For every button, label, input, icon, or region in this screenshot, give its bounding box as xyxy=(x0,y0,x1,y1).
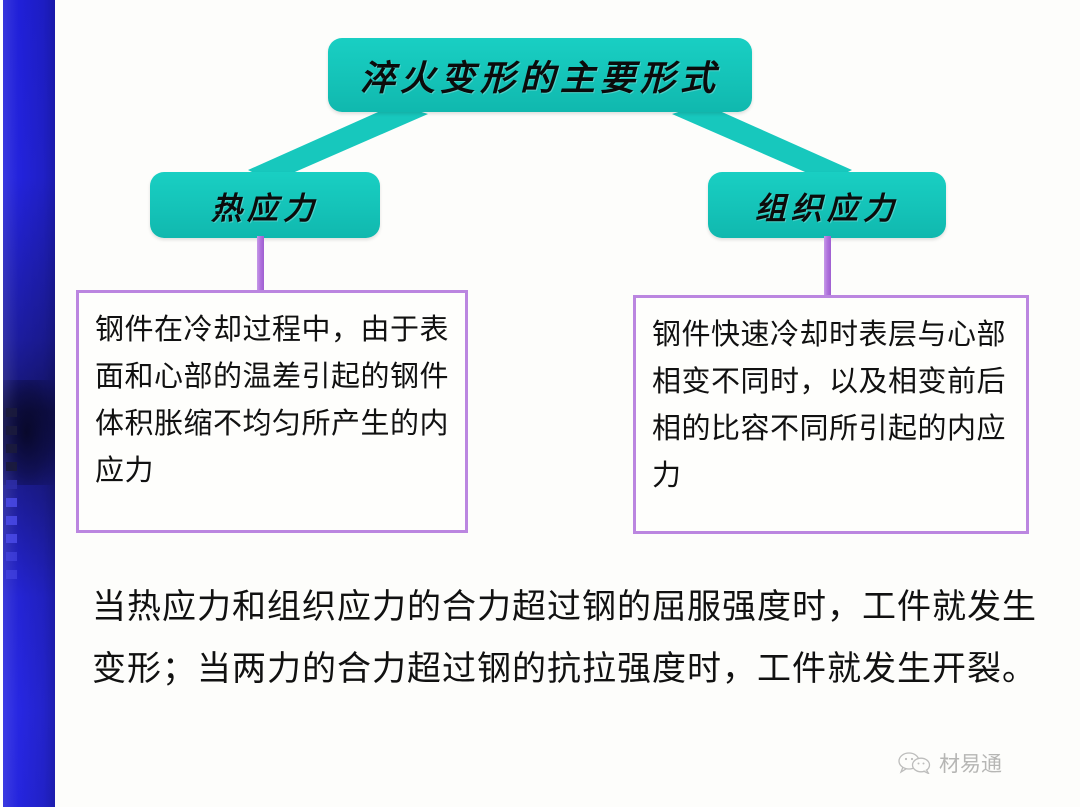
left-decorative-stripe xyxy=(0,0,58,807)
watermark: 材易通 xyxy=(898,748,1002,778)
stem-right xyxy=(824,236,831,296)
node-microstructural-stress[interactable]: 组织应力 xyxy=(708,172,946,238)
stripe-dash-marks xyxy=(6,408,18,658)
stem-left xyxy=(257,236,264,292)
node-thermal-stress[interactable]: 热应力 xyxy=(150,172,380,238)
description-box-microstructural-stress: 钢件快速冷却时表层与心部相变不同时，以及相变前后相的比容不同所引起的内应力 xyxy=(633,295,1029,534)
node-microstructural-stress-label: 组织应力 xyxy=(755,183,899,228)
wechat-icon xyxy=(898,752,932,774)
connector-line-left xyxy=(248,104,428,182)
slide-canvas: 淬火变形的主要形式 热应力 组织应力 钢件在冷却过程中，由于表面和心部的温差引起… xyxy=(0,0,1080,807)
watermark-text: 材易通 xyxy=(939,748,1002,778)
node-thermal-stress-label: 热应力 xyxy=(211,183,319,228)
description-box-thermal-stress: 钢件在冷却过程中，由于表面和心部的温差引起的钢件体积胀缩不均匀所产生的内应力 xyxy=(76,290,468,533)
node-title[interactable]: 淬火变形的主要形式 xyxy=(328,38,752,112)
connector-line-right xyxy=(672,104,852,182)
conclusion-paragraph: 当热应力和组织应力的合力超过钢的屈服强度时，工件就发生变形；当两力的合力超过钢的… xyxy=(92,577,1044,701)
node-title-label: 淬火变形的主要形式 xyxy=(360,50,720,101)
